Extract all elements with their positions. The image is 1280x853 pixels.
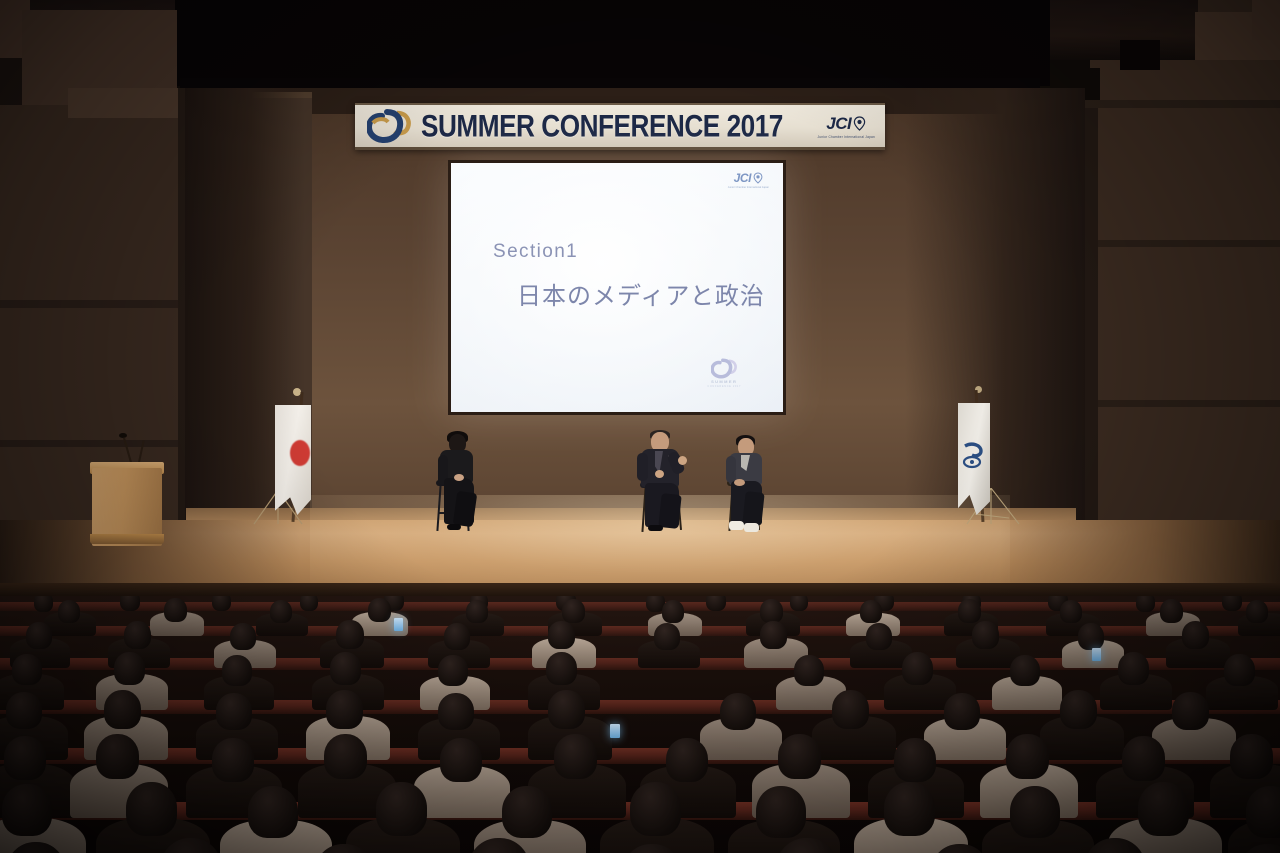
audience-head — [1230, 734, 1273, 779]
panelist-arm-left — [637, 453, 648, 481]
wall-panel-right-3 — [1252, 0, 1280, 40]
slide-footer-logo-line1: SUMMER — [711, 379, 737, 384]
audience-head — [6, 692, 42, 729]
panelist-leg-crossed — [658, 493, 681, 529]
audience-head — [562, 599, 585, 623]
slide-footer-logo-line2: CONFERENCE 2017 — [707, 385, 741, 388]
conference-banner: SUMMER CONFERENCE 2017 JCI Junior Chambe… — [355, 103, 885, 150]
audience-head — [96, 734, 139, 779]
projection-screen-frame: JCI Junior Chamber International Japan S… — [448, 160, 786, 415]
phone-icon — [1092, 648, 1101, 661]
banner-jci-subtitle: Junior Chamber International Japan — [818, 135, 875, 139]
audience-head — [230, 623, 256, 650]
audience-head — [630, 782, 681, 836]
jci-shield-pin-icon — [753, 172, 763, 184]
wall-seam-right-1 — [1070, 100, 1280, 108]
panelist-arm — [726, 456, 736, 483]
panelist-hand — [734, 479, 745, 486]
audience-head — [1122, 736, 1165, 781]
panelist-hand-right — [678, 456, 687, 465]
audience-head — [1160, 599, 1183, 623]
audience-head — [126, 782, 177, 836]
audience-head — [124, 621, 151, 649]
wall-panel-left-5 — [68, 88, 180, 118]
audience-head — [466, 600, 488, 623]
wall-seam-right-2 — [1070, 240, 1280, 247]
audience-head — [438, 693, 474, 730]
jci-shield-pin-icon — [853, 116, 866, 131]
audience-head — [120, 596, 140, 611]
audience-head — [790, 596, 808, 611]
audience-head — [902, 652, 933, 685]
audience-head — [1182, 621, 1209, 649]
audience-head — [1138, 782, 1189, 836]
panelist-shoe — [447, 524, 461, 530]
banner-title: SUMMER CONFERENCE 2017 — [421, 108, 798, 145]
audience-head — [1010, 786, 1060, 838]
banner-jci-abbrev: JCI — [826, 114, 851, 134]
audience-head — [720, 693, 756, 730]
wall-seam-right-3 — [1070, 400, 1280, 407]
slide-heading: 日本のメディアと政治 — [517, 276, 765, 311]
audience-head — [222, 655, 252, 686]
slide-section-label: Section1 — [493, 241, 578, 263]
audience-head — [832, 690, 869, 729]
audience-head — [756, 786, 806, 838]
audience-head — [1078, 623, 1104, 650]
projection-screen: JCI Junior Chamber International Japan S… — [451, 163, 783, 412]
audience-head — [212, 596, 231, 611]
slide-jci-subtitle: Junior Chamber International Japan — [728, 186, 769, 189]
jci-flag-emblem — [962, 440, 984, 472]
audience-head — [438, 655, 468, 686]
rear-wall-right-shading — [905, 88, 1085, 538]
audience-head — [706, 596, 726, 611]
slide-footer-logo: SUMMER CONFERENCE 2017 — [707, 358, 741, 388]
audience-head — [2, 784, 52, 836]
audience-head — [760, 599, 783, 623]
audience-head — [368, 598, 391, 622]
audience-head — [972, 621, 999, 649]
audience-head — [330, 652, 361, 685]
audience-head — [546, 652, 577, 685]
panelist-shoe-left — [729, 521, 744, 530]
panelist-leg-crossed — [742, 491, 764, 526]
audience-head — [12, 654, 42, 685]
audience-head — [58, 600, 80, 623]
summer-conference-swirl-icon — [367, 109, 411, 143]
audience-head — [376, 782, 427, 836]
wall-panel-right-4 — [1090, 60, 1280, 540]
audience-head — [1246, 786, 1280, 838]
audience-head — [548, 690, 585, 729]
audience-head — [114, 652, 145, 685]
audience-head — [444, 623, 470, 650]
japan-flag-disc — [290, 440, 310, 466]
panelist-shoe-right — [744, 523, 759, 532]
ceiling-shadow-void — [175, 0, 1050, 86]
audience-head — [866, 623, 892, 650]
panelist-hand-left — [655, 470, 664, 478]
wall-panel-right-shadow — [1120, 40, 1160, 70]
audience-head — [654, 623, 680, 650]
banner-jci-logo: JCI Junior Chamber International Japan — [818, 114, 875, 139]
summer-conference-swirl-icon — [711, 358, 737, 379]
audience-head — [1136, 596, 1155, 612]
audience-head — [212, 738, 254, 782]
conference-hall-photo: SUMMER CONFERENCE 2017 JCI Junior Chambe… — [0, 0, 1280, 853]
phone-icon — [610, 724, 620, 738]
audience-head — [666, 738, 708, 782]
audience-head — [1060, 690, 1097, 729]
audience-head — [1118, 652, 1149, 685]
wall-panel-left-2 — [0, 58, 22, 106]
seat-row — [0, 602, 1280, 611]
audience-head — [1006, 734, 1049, 779]
panelist-hand — [454, 474, 464, 481]
audience-head — [104, 690, 141, 729]
audience-head — [944, 693, 980, 730]
audience-head — [1224, 654, 1255, 686]
audience-head — [34, 596, 53, 612]
wall-seam-left-1 — [0, 300, 182, 308]
audience-head — [502, 786, 552, 838]
phone-icon — [394, 618, 403, 631]
slide-jci-abbrev: JCI — [734, 171, 751, 185]
audience-head — [860, 600, 882, 623]
audience-head — [662, 600, 684, 623]
audience-head — [778, 734, 821, 779]
audience-head — [26, 622, 52, 649]
audience-head — [1060, 600, 1082, 623]
audience-head — [164, 598, 187, 622]
audience-head — [1222, 596, 1242, 611]
audience-head — [884, 782, 935, 836]
podium-base — [90, 534, 164, 544]
wall-seam-left-2 — [0, 440, 182, 447]
audience-head — [4, 736, 46, 780]
audience-head — [794, 655, 824, 686]
audience-head — [760, 621, 787, 649]
slide-jci-logo: JCI Junior Chamber International Japan — [728, 171, 769, 189]
audience-head — [1246, 600, 1268, 623]
audience-head — [326, 690, 363, 729]
audience-head — [548, 621, 575, 649]
audience-head — [894, 738, 936, 782]
audience-head — [216, 693, 252, 730]
audience-head — [1010, 655, 1040, 686]
audience-head — [300, 596, 318, 611]
audience-head — [324, 734, 367, 779]
audience-head — [336, 620, 364, 649]
audience-head — [958, 599, 981, 623]
audience-head — [248, 786, 298, 838]
panelist-shoe — [648, 525, 663, 531]
audience-seating-area — [0, 596, 1280, 853]
audience-head — [440, 738, 482, 782]
audience-head — [554, 734, 597, 779]
audience-head — [1172, 692, 1209, 730]
audience-head — [270, 600, 292, 623]
